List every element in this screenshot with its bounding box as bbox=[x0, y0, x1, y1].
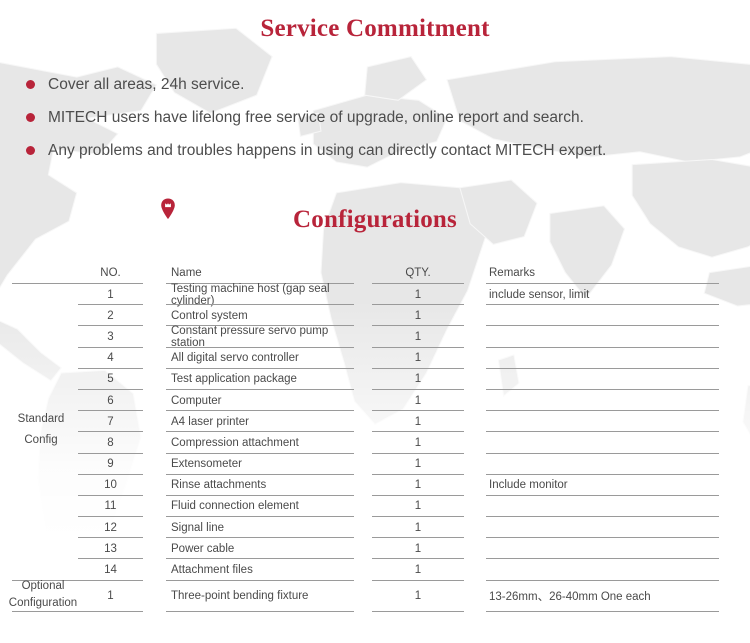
table-cell-no: 10 bbox=[78, 475, 143, 496]
table-cell-no: 6 bbox=[78, 390, 143, 411]
column-header-group bbox=[0, 262, 78, 284]
table-cell-name: Rinse attachments bbox=[166, 475, 354, 496]
table-cell-name: Control system bbox=[166, 305, 354, 326]
table-cell-remarks bbox=[486, 517, 719, 538]
table-cell-group bbox=[0, 496, 78, 517]
table-cell-name: Constant pressure servo pump station bbox=[166, 326, 354, 347]
table-cell-qty: 1 bbox=[372, 369, 464, 390]
table-cell-qty: 1 bbox=[372, 411, 464, 432]
table-cell-name: Attachment files bbox=[166, 559, 354, 580]
table-cell-remarks bbox=[486, 369, 719, 390]
table-cell-group bbox=[0, 284, 78, 305]
table-row: 2Control system1 bbox=[0, 305, 750, 326]
table-cell-qty: 1 bbox=[372, 496, 464, 517]
table-cell-remarks bbox=[486, 496, 719, 517]
table-header-row: NO. Name QTY. Remarks bbox=[0, 262, 750, 284]
table-cell-no: 1 bbox=[78, 284, 143, 305]
table-cell-no: 13 bbox=[78, 538, 143, 559]
table-cell-name: Power cable bbox=[166, 538, 354, 559]
table-body: 1Testing machine host (gap seal cylinder… bbox=[0, 284, 750, 612]
table-cell-remarks bbox=[486, 454, 719, 475]
column-header-name: Name bbox=[166, 262, 354, 284]
table-cell-group bbox=[0, 454, 78, 475]
table-cell-remarks bbox=[486, 326, 719, 347]
table-cell-qty: 1 bbox=[372, 305, 464, 326]
table-cell-group bbox=[0, 348, 78, 369]
table-cell-no: 14 bbox=[78, 559, 143, 580]
table-cell-name: Computer bbox=[166, 390, 354, 411]
table-cell-group bbox=[0, 475, 78, 496]
table-cell-group bbox=[0, 538, 78, 559]
table-row: 1Testing machine host (gap seal cylinder… bbox=[0, 284, 750, 305]
table-cell-no: 5 bbox=[78, 369, 143, 390]
configurations-table: NO. Name QTY. Remarks 1Testing machine h… bbox=[0, 262, 750, 612]
list-item-label: Any problems and troubles happens in usi… bbox=[48, 141, 606, 161]
table-row: 9Extensometer1 bbox=[0, 454, 750, 475]
table-cell-qty: 1 bbox=[372, 559, 464, 580]
service-commitment-list: Cover all areas, 24h service. MITECH use… bbox=[26, 68, 726, 167]
list-item-label: MITECH users have lifelong free service … bbox=[48, 108, 584, 128]
list-item: Cover all areas, 24h service. bbox=[26, 68, 726, 101]
table-cell-name: Signal line bbox=[166, 517, 354, 538]
column-header-remarks: Remarks bbox=[486, 262, 719, 284]
table-cell-qty: 1 bbox=[372, 326, 464, 347]
table-cell-group bbox=[0, 305, 78, 326]
table-cell-remarks bbox=[486, 432, 719, 453]
bullet-dot-icon bbox=[26, 146, 35, 155]
table-cell-no: 8 bbox=[78, 432, 143, 453]
table-cell-remarks bbox=[486, 538, 719, 559]
map-location-pin-icon bbox=[160, 198, 176, 220]
table-cell-remarks: Include monitor bbox=[486, 475, 719, 496]
table-cell-no: 1 bbox=[78, 581, 143, 612]
table-row: 14Attachment files1 bbox=[0, 559, 750, 580]
table-cell-qty: 1 bbox=[372, 432, 464, 453]
table-cell-qty: 1 bbox=[372, 538, 464, 559]
table-cell-name: Testing machine host (gap seal cylinder) bbox=[166, 284, 354, 305]
table-cell-name: Compression attachment bbox=[166, 432, 354, 453]
table-cell-no: 4 bbox=[78, 348, 143, 369]
table-cell-name: All digital servo controller bbox=[166, 348, 354, 369]
table-cell-name: Extensometer bbox=[166, 454, 354, 475]
group-label-line: Config bbox=[0, 430, 82, 451]
table-cell-group bbox=[0, 369, 78, 390]
table-row: 7A4 laser printer1 bbox=[0, 411, 750, 432]
bullet-dot-icon bbox=[26, 80, 35, 89]
table-cell-name: A4 laser printer bbox=[166, 411, 354, 432]
table-cell-qty: 1 bbox=[372, 454, 464, 475]
table-cell-no: 7 bbox=[78, 411, 143, 432]
table-cell-remarks bbox=[486, 559, 719, 580]
list-item-label: Cover all areas, 24h service. bbox=[48, 75, 244, 95]
table-cell-no: 3 bbox=[78, 326, 143, 347]
list-item: Any problems and troubles happens in usi… bbox=[26, 134, 726, 167]
table-row: 1Three-point bending fixture113-26mm、26-… bbox=[0, 581, 750, 612]
table-cell-qty: 1 bbox=[372, 348, 464, 369]
table-row: 13Power cable1 bbox=[0, 538, 750, 559]
table-cell-remarks bbox=[486, 390, 719, 411]
table-cell-name: Three-point bending fixture bbox=[166, 581, 354, 612]
table-row: 6Computer1 bbox=[0, 390, 750, 411]
table-cell-group bbox=[0, 390, 78, 411]
table-cell-qty: 1 bbox=[372, 390, 464, 411]
group-label-line: Standard bbox=[0, 409, 82, 430]
group-label-standard-config: Standard Config bbox=[0, 409, 82, 451]
table-cell-group bbox=[0, 517, 78, 538]
group-label-line: Configuration bbox=[0, 595, 86, 612]
group-label-optional-configuration: Optional Configuration bbox=[0, 578, 86, 612]
table-cell-remarks: 13-26mm、26-40mm One each bbox=[486, 581, 719, 612]
table-cell-no: 11 bbox=[78, 496, 143, 517]
table-cell-remarks bbox=[486, 411, 719, 432]
table-row: 12Signal line1 bbox=[0, 517, 750, 538]
table-row: 10Rinse attachments1Include monitor bbox=[0, 475, 750, 496]
column-header-no: NO. bbox=[78, 262, 143, 284]
bullet-dot-icon bbox=[26, 113, 35, 122]
table-cell-remarks bbox=[486, 305, 719, 326]
table-cell-remarks bbox=[486, 348, 719, 369]
page-title-configurations: Configurations bbox=[0, 205, 750, 235]
column-header-qty: QTY. bbox=[372, 262, 464, 284]
table-cell-remarks: include sensor, limit bbox=[486, 284, 719, 305]
list-item: MITECH users have lifelong free service … bbox=[26, 101, 726, 134]
table-row: 11Fluid connection element1 bbox=[0, 496, 750, 517]
table-cell-name: Test application package bbox=[166, 369, 354, 390]
table-row: 5Test application package1 bbox=[0, 369, 750, 390]
page-title-service-commitment: Service Commitment bbox=[0, 14, 750, 44]
table-cell-no: 2 bbox=[78, 305, 143, 326]
table-cell-qty: 1 bbox=[372, 284, 464, 305]
group-label-line: Optional bbox=[0, 578, 86, 595]
table-cell-qty: 1 bbox=[372, 475, 464, 496]
table-row: 3Constant pressure servo pump station1 bbox=[0, 326, 750, 347]
table-cell-no: 12 bbox=[78, 517, 143, 538]
table-row: 8Compression attachment1 bbox=[0, 432, 750, 453]
table-cell-no: 9 bbox=[78, 454, 143, 475]
table-cell-qty: 1 bbox=[372, 517, 464, 538]
table-cell-group bbox=[0, 326, 78, 347]
table-cell-name: Fluid connection element bbox=[166, 496, 354, 517]
table-cell-qty: 1 bbox=[372, 581, 464, 612]
table-row: 4All digital servo controller1 bbox=[0, 348, 750, 369]
